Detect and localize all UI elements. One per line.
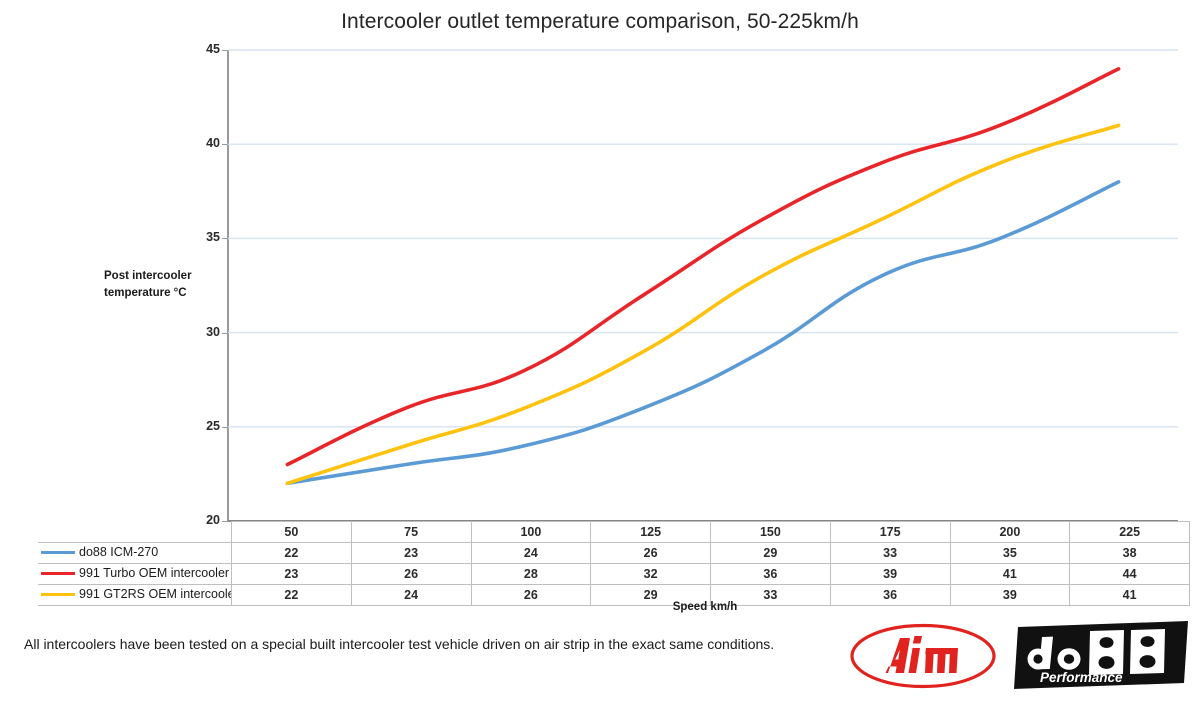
x-axis-title: Speed km/h — [605, 601, 805, 613]
data-cell-s0-x150: 29 — [711, 543, 831, 564]
table-row: 991 Turbo OEM intercooler232628323639414… — [38, 564, 1190, 585]
x-tick-label-225: 225 — [1070, 522, 1190, 543]
data-cell-s0-x75: 23 — [351, 543, 471, 564]
data-cell-s1-x50: 23 — [232, 564, 352, 585]
legend-color-swatch-0 — [41, 551, 75, 554]
data-cell-s0-x100: 24 — [471, 543, 591, 564]
y-tick-mark-40 — [222, 144, 227, 145]
table-header-row: 5075100125150175200225 — [38, 522, 1190, 543]
table-corner-cell — [38, 522, 232, 543]
y-tick-mark-30 — [222, 333, 227, 334]
y-tick-label-40: 40 — [186, 136, 220, 150]
data-cell-s1-x100: 28 — [471, 564, 591, 585]
x-tick-label-175: 175 — [830, 522, 950, 543]
x-tick-label-200: 200 — [950, 522, 1070, 543]
y-tick-mark-35 — [222, 238, 227, 239]
logo-group: Performance — [848, 612, 1190, 700]
data-cell-s1-x75: 26 — [351, 564, 471, 585]
data-cell-s0-x175: 33 — [830, 543, 950, 564]
legend-item-2[interactable]: 991 GT2RS OEM intercooler — [38, 585, 232, 606]
series-line-2 — [287, 125, 1118, 483]
legend-color-swatch-2 — [41, 593, 75, 596]
legend-item-0[interactable]: do88 ICM-270 — [38, 543, 232, 564]
plot-area — [228, 50, 1178, 521]
series-line-1 — [287, 69, 1118, 465]
y-tick-label-45: 45 — [186, 42, 220, 56]
aim-logo — [848, 619, 998, 693]
data-cell-s2-x50: 22 — [232, 585, 352, 606]
x-tick-label-125: 125 — [591, 522, 711, 543]
y-tick-label-25: 25 — [186, 419, 220, 433]
data-cell-s1-x175: 39 — [830, 564, 950, 585]
data-cell-s1-x200: 41 — [950, 564, 1070, 585]
table-row: do88 ICM-2702223242629333538 — [38, 543, 1190, 564]
y-tick-mark-25 — [222, 427, 227, 428]
do88-logo: Performance — [1012, 617, 1190, 695]
footnote-text: All intercoolers have been tested on a s… — [24, 636, 774, 652]
legend-color-swatch-1 — [41, 572, 75, 575]
data-table: 5075100125150175200225do88 ICM-270222324… — [38, 521, 1190, 606]
data-cell-s2-x175: 36 — [830, 585, 950, 606]
x-tick-label-50: 50 — [232, 522, 352, 543]
y-axis-title: Post intercooler temperature °C — [104, 268, 220, 302]
data-cell-s0-x225: 38 — [1070, 543, 1190, 564]
data-cell-s1-x225: 44 — [1070, 564, 1190, 585]
legend-label-1: 991 Turbo OEM intercooler — [79, 567, 229, 581]
data-cell-s0-x200: 35 — [950, 543, 1070, 564]
y-tick-label-30: 30 — [186, 325, 220, 339]
x-tick-label-150: 150 — [711, 522, 831, 543]
legend-item-1[interactable]: 991 Turbo OEM intercooler — [38, 564, 232, 585]
do88-subtext: Performance — [1040, 670, 1123, 685]
gridline-group — [228, 50, 1178, 427]
x-tick-label-75: 75 — [351, 522, 471, 543]
legend-label-0: do88 ICM-270 — [79, 546, 158, 560]
x-tick-label-100: 100 — [471, 522, 591, 543]
series-line-group — [287, 69, 1118, 483]
data-cell-s1-x125: 32 — [591, 564, 711, 585]
data-cell-s0-x125: 26 — [591, 543, 711, 564]
data-cell-s2-x75: 24 — [351, 585, 471, 606]
data-cell-s1-x150: 36 — [711, 564, 831, 585]
y-tick-label-35: 35 — [186, 230, 220, 244]
data-cell-s2-x200: 39 — [950, 585, 1070, 606]
data-cell-s0-x50: 22 — [232, 543, 352, 564]
data-cell-s2-x225: 41 — [1070, 585, 1190, 606]
plot-svg — [228, 50, 1178, 521]
data-cell-s2-x100: 26 — [471, 585, 591, 606]
chart-title: Intercooler outlet temperature compariso… — [0, 10, 1200, 34]
legend-label-2: 991 GT2RS OEM intercooler — [79, 588, 232, 602]
y-tick-mark-45 — [222, 50, 227, 51]
